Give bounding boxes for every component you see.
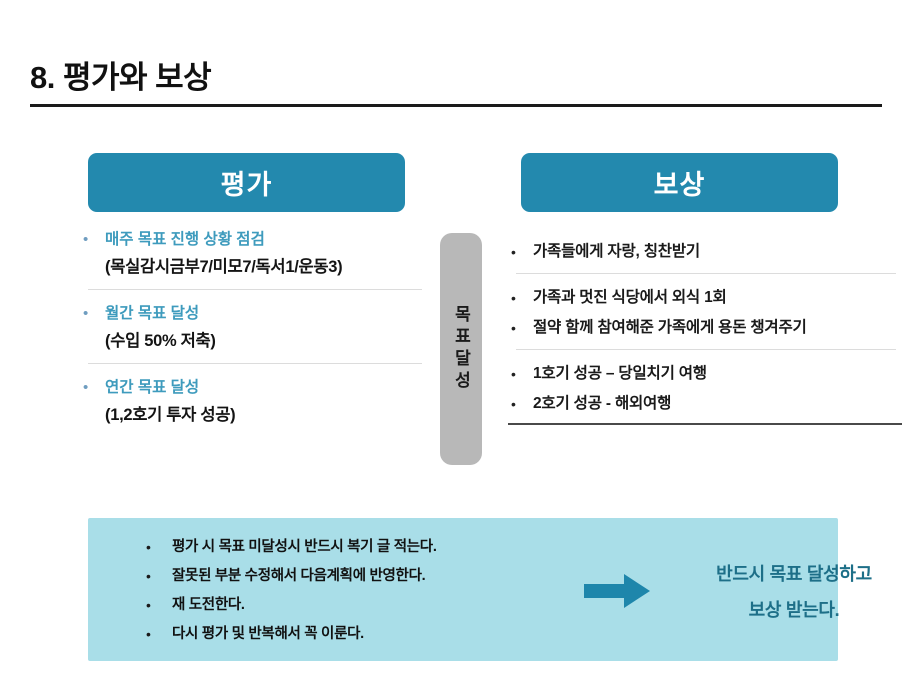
- title-divider-rule: [30, 104, 882, 107]
- evaluation-sub-label: (수입 50% 저축): [80, 328, 430, 354]
- bullet-dot-icon: •: [80, 376, 105, 400]
- group-divider: [516, 349, 896, 350]
- evaluation-bullet-label: 월간 목표 달성: [105, 302, 199, 326]
- bullet-dot-icon: •: [508, 362, 533, 386]
- center-goal-bar-label: 목표달성: [453, 305, 470, 393]
- list-item: • 재 도전한다.: [146, 593, 536, 617]
- list-item: • 연간 목표 달성: [80, 376, 430, 400]
- bullet-dot-icon: •: [508, 392, 533, 416]
- list-item: • 월간 목표 달성: [80, 302, 430, 326]
- reward-group-1: • 가족들에게 자랑, 칭찬받기: [508, 240, 904, 274]
- list-item: • 절약 함께 참여해준 가족에게 용돈 챙겨주기: [508, 316, 904, 340]
- reward-bottom-rule: [508, 423, 902, 425]
- bullet-dot-icon: •: [508, 240, 533, 264]
- summary-panel: • 평가 시 목표 미달성시 반드시 복기 글 적는다. • 잘못된 부분 수정…: [88, 518, 838, 661]
- conclusion-line-2: 보상 받는다.: [674, 592, 912, 628]
- list-item: • 가족들에게 자랑, 칭찬받기: [508, 240, 904, 264]
- bullet-dot-icon: •: [146, 535, 172, 559]
- list-item: • 2호기 성공 - 해외여행: [508, 392, 904, 416]
- reward-item-label: 가족들에게 자랑, 칭찬받기: [533, 240, 700, 264]
- summary-bullet-label: 잘못된 부분 수정해서 다음계획에 반영한다.: [172, 564, 425, 588]
- evaluation-bullet-label: 매주 목표 진행 상황 점검: [105, 228, 265, 252]
- summary-bullet-list: • 평가 시 목표 미달성시 반드시 복기 글 적는다. • 잘못된 부분 수정…: [146, 535, 536, 651]
- column-header-evaluation: 평가: [88, 153, 405, 212]
- page-title: 8. 평가와 보상: [30, 52, 211, 97]
- evaluation-group-3: • 연간 목표 달성 (1,2호기 투자 성공): [80, 376, 430, 428]
- bullet-dot-icon: •: [508, 286, 533, 310]
- evaluation-group-2: • 월간 목표 달성 (수입 50% 저축): [80, 302, 430, 364]
- reward-group-3: • 1호기 성공 – 당일치기 여행 • 2호기 성공 - 해외여행: [508, 362, 904, 425]
- column-header-reward: 보상: [521, 153, 838, 212]
- evaluation-sub-label: (목실감시금부7/미모7/독서1/운동3): [80, 254, 430, 280]
- reward-column: • 가족들에게 자랑, 칭찬받기 • 가족과 멋진 식당에서 외식 1회 • 절…: [508, 240, 904, 425]
- reward-group-2: • 가족과 멋진 식당에서 외식 1회 • 절약 함께 참여해준 가족에게 용돈…: [508, 286, 904, 350]
- list-item: • 잘못된 부분 수정해서 다음계획에 반영한다.: [146, 564, 536, 588]
- bullet-dot-icon: •: [146, 564, 172, 588]
- list-item: • 다시 평가 및 반복해서 꼭 이룬다.: [146, 622, 536, 646]
- group-divider: [88, 363, 422, 364]
- list-item: • 1호기 성공 – 당일치기 여행: [508, 362, 904, 386]
- bullet-dot-icon: •: [508, 316, 533, 340]
- list-item: • 평가 시 목표 미달성시 반드시 복기 글 적는다.: [146, 535, 536, 559]
- column-header-reward-label: 보상: [654, 163, 706, 202]
- center-goal-bar: 목표달성: [440, 233, 482, 465]
- conclusion-line-1: 반드시 목표 달성하고: [674, 556, 912, 592]
- evaluation-column: • 매주 목표 진행 상황 점검 (목실감시금부7/미모7/독서1/운동3) •…: [80, 228, 430, 428]
- list-item: • 가족과 멋진 식당에서 외식 1회: [508, 286, 904, 310]
- evaluation-sub-label: (1,2호기 투자 성공): [80, 402, 430, 428]
- summary-bullet-label: 평가 시 목표 미달성시 반드시 복기 글 적는다.: [172, 535, 437, 559]
- reward-item-label: 2호기 성공 - 해외여행: [533, 392, 671, 416]
- evaluation-bullet-label: 연간 목표 달성: [105, 376, 199, 400]
- summary-bullet-label: 재 도전한다.: [172, 593, 245, 617]
- bullet-dot-icon: •: [80, 228, 105, 252]
- list-item: • 매주 목표 진행 상황 점검: [80, 228, 430, 252]
- conclusion-text: 반드시 목표 달성하고 보상 받는다.: [674, 556, 912, 628]
- bullet-dot-icon: •: [80, 302, 105, 326]
- group-divider: [88, 289, 422, 290]
- slide-canvas: 8. 평가와 보상 평가 보상 목표달성 • 매주 목표 진행 상황 점검 (목…: [0, 0, 912, 684]
- arrow-right-icon: [584, 574, 650, 608]
- reward-item-label: 가족과 멋진 식당에서 외식 1회: [533, 286, 727, 310]
- group-divider: [516, 273, 896, 274]
- summary-bullet-label: 다시 평가 및 반복해서 꼭 이룬다.: [172, 622, 364, 646]
- bullet-dot-icon: •: [146, 593, 172, 617]
- reward-item-label: 절약 함께 참여해준 가족에게 용돈 챙겨주기: [533, 316, 807, 340]
- reward-item-label: 1호기 성공 – 당일치기 여행: [533, 362, 707, 386]
- column-header-evaluation-label: 평가: [221, 163, 273, 202]
- evaluation-group-1: • 매주 목표 진행 상황 점검 (목실감시금부7/미모7/독서1/운동3): [80, 228, 430, 290]
- bullet-dot-icon: •: [146, 622, 172, 646]
